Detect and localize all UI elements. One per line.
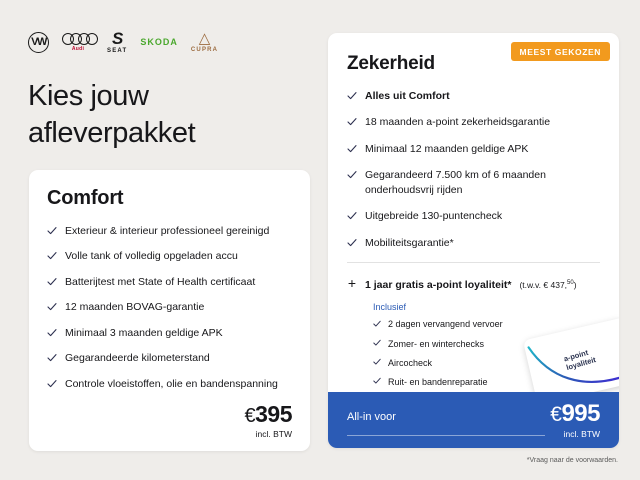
list-item-label: Minimaal 12 maanden geldige APK: [365, 142, 528, 156]
loyalty-value: (t.w.v. € 437,50): [519, 280, 576, 290]
list-item: Mobiliteitsgarantie*: [347, 236, 600, 250]
loyalty-value-cents: 50: [567, 281, 574, 287]
volkswagen-roundel-icon: VW: [28, 32, 49, 53]
check-icon: [347, 170, 357, 180]
zekerheid-package-card: MEEST GEKOZEN Zekerheid Alles uit Comfor…: [328, 33, 619, 448]
comfort-package-card: Comfort Exterieur & interieur profession…: [29, 170, 310, 451]
seat-s-icon: S: [112, 30, 122, 47]
list-item-label: Controle vloeistoffen, olie en bandenspa…: [65, 377, 278, 391]
check-icon: [47, 251, 57, 261]
footer-divider: [347, 435, 545, 436]
volkswagen-logo: VW: [28, 32, 49, 53]
zekerheid-feature-list: Alles uit Comfort 18 maanden a-point zek…: [347, 89, 600, 250]
list-item: Controle vloeistoffen, olie en bandenspa…: [47, 377, 292, 391]
list-item: 18 maanden a-point zekerheidsgarantie: [347, 115, 600, 129]
loyalty-headline-row: + 1 jaar gratis a-point loyaliteit* (t.w…: [347, 276, 600, 291]
list-item-label: Volle tank of volledig opgeladen accu: [65, 249, 238, 263]
list-item-label: Ruit- en bandenreparatie: [388, 376, 488, 388]
check-icon: [347, 144, 357, 154]
price-amount: 395: [255, 401, 292, 427]
audi-wordmark: Audi: [72, 46, 84, 52]
list-item-label: Aircocheck: [388, 357, 432, 369]
list-item: Batterijtest met State of Health certifi…: [47, 275, 292, 289]
list-item-label: Batterijtest met State of Health certifi…: [65, 275, 255, 289]
skoda-logo: SKODA: [140, 37, 178, 47]
page-title: Kies jouw afleverpakket: [28, 78, 308, 152]
price-amount: 995: [561, 400, 600, 427]
cupra-logo: △ CUPRA: [191, 31, 218, 53]
check-icon: [347, 91, 357, 101]
zekerheid-price-note: incl. BTW: [550, 429, 600, 439]
currency-symbol: €: [550, 403, 561, 426]
list-item-label: 2 dagen vervangend vervoer: [388, 318, 503, 330]
list-item: Minimaal 3 maanden geldige APK: [47, 326, 292, 340]
inclusief-label: Inclusief: [373, 302, 600, 312]
list-item: Exterieur & interieur professioneel gere…: [47, 224, 292, 238]
list-item: Gegarandeerd 7.500 km of 6 maanden onder…: [347, 168, 600, 197]
comfort-price-block: €395 incl. BTW: [245, 403, 293, 439]
list-item-label: Gegarandeerde kilometerstand: [65, 351, 210, 365]
zekerheid-price: €995: [550, 402, 600, 426]
check-icon: [47, 328, 57, 338]
loyalty-title: 1 jaar gratis a-point loyaliteit*: [365, 279, 511, 291]
comfort-title: Comfort: [47, 187, 292, 210]
list-item-label: Zomer- en winterchecks: [388, 338, 484, 350]
loyalty-value-prefix: (t.w.v. € 437,: [519, 280, 567, 290]
list-item-label: Mobiliteitsgarantie*: [365, 236, 454, 250]
promo-page: VW Audi S SEAT SKODA △ CUPRA Kies jouw a…: [0, 0, 640, 480]
list-item: Volle tank of volledig opgeladen accu: [47, 249, 292, 263]
list-item: Uitgebreide 130-puntencheck: [347, 209, 600, 223]
loyalty-value-suffix: ): [574, 280, 577, 290]
list-item-label: Uitgebreide 130-puntencheck: [365, 209, 502, 223]
list-item-label: Gegarandeerd 7.500 km of 6 maanden onder…: [365, 168, 600, 197]
list-item-label: Exterieur & interieur professioneel gere…: [65, 224, 269, 238]
check-icon: [47, 277, 57, 287]
check-icon: [47, 379, 57, 389]
disclaimer-text: *Vraag naar de voorwaarden.: [527, 457, 618, 464]
seat-wordmark: SEAT: [107, 48, 127, 54]
check-icon: [347, 117, 357, 127]
check-icon: [373, 358, 381, 366]
check-icon: [47, 302, 57, 312]
list-item: Alles uit Comfort: [347, 89, 600, 103]
audi-rings-icon: [62, 33, 94, 45]
comfort-feature-list: Exterieur & interieur professioneel gere…: [47, 224, 292, 391]
list-item-label: 12 maanden BOVAG-garantie: [65, 300, 204, 314]
zekerheid-price-block: €995 incl. BTW: [550, 402, 600, 439]
footer-price-label: All-in voor: [347, 402, 396, 423]
skoda-wordmark: SKODA: [140, 37, 178, 47]
check-icon: [347, 238, 357, 248]
check-icon: [47, 353, 57, 363]
check-icon: [373, 320, 381, 328]
list-item-label: Alles uit Comfort: [365, 89, 450, 103]
check-icon: [347, 211, 357, 221]
list-item: 12 maanden BOVAG-garantie: [47, 300, 292, 314]
zekerheid-price-footer: All-in voor €995 incl. BTW: [328, 392, 619, 448]
list-item-label: 18 maanden a-point zekerheidsgarantie: [365, 115, 550, 129]
cupra-wordmark: CUPRA: [191, 47, 218, 53]
seat-logo: S SEAT: [107, 30, 127, 54]
brand-logo-strip: VW Audi S SEAT SKODA △ CUPRA: [28, 28, 218, 56]
check-icon: [47, 226, 57, 236]
cupra-emblem-icon: △: [199, 31, 211, 46]
list-item: 2 dagen vervangend vervoer: [373, 318, 600, 330]
list-item: Gegarandeerde kilometerstand: [47, 351, 292, 365]
list-item: Minimaal 12 maanden geldige APK: [347, 142, 600, 156]
comfort-price: €395: [245, 403, 293, 426]
section-divider: [347, 262, 600, 263]
check-icon: [373, 377, 381, 385]
list-item-label: Minimaal 3 maanden geldige APK: [65, 326, 223, 340]
zekerheid-title: Zekerheid: [347, 53, 600, 75]
audi-logo: Audi: [62, 33, 94, 52]
plus-icon: +: [347, 276, 357, 290]
comfort-price-note: incl. BTW: [245, 429, 293, 439]
currency-symbol: €: [245, 405, 256, 427]
check-icon: [373, 339, 381, 347]
